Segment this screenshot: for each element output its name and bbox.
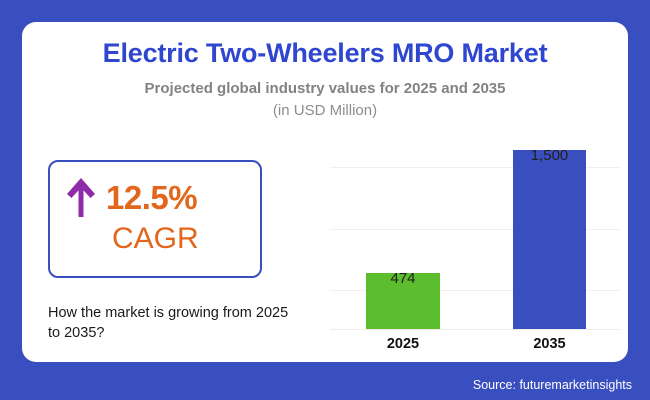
cagr-panel: 12.5% CAGR xyxy=(48,160,262,278)
source-attribution: Source: futuremarketinsights xyxy=(473,378,632,392)
category-label-2025: 2025 xyxy=(356,336,450,352)
infographic-root: Electric Two-Wheelers MRO Market Project… xyxy=(0,0,650,400)
page-title: Electric Two-Wheelers MRO Market xyxy=(22,38,628,69)
bar-value-2035: 1,500 xyxy=(513,147,586,164)
bar-2035[interactable] xyxy=(513,150,586,329)
category-label-2035: 2035 xyxy=(503,336,596,352)
cagr-value: 12.5% xyxy=(106,181,197,214)
bar-value-2025: 474 xyxy=(366,270,440,287)
growth-question-text: How the market is growing from 2025 to 2… xyxy=(48,304,298,343)
axis-baseline-zero xyxy=(330,329,620,330)
content-card: Electric Two-Wheelers MRO Market Project… xyxy=(22,22,628,362)
arrow-up-icon xyxy=(64,174,98,220)
bar-chart: 474 1,500 2025 2035 xyxy=(330,142,620,330)
cagr-label: CAGR xyxy=(112,224,199,254)
cagr-value-row: 12.5% xyxy=(64,174,197,220)
chart-unit-note: (in USD Million) xyxy=(22,102,628,119)
chart-subtitle: Projected global industry values for 202… xyxy=(22,80,628,97)
